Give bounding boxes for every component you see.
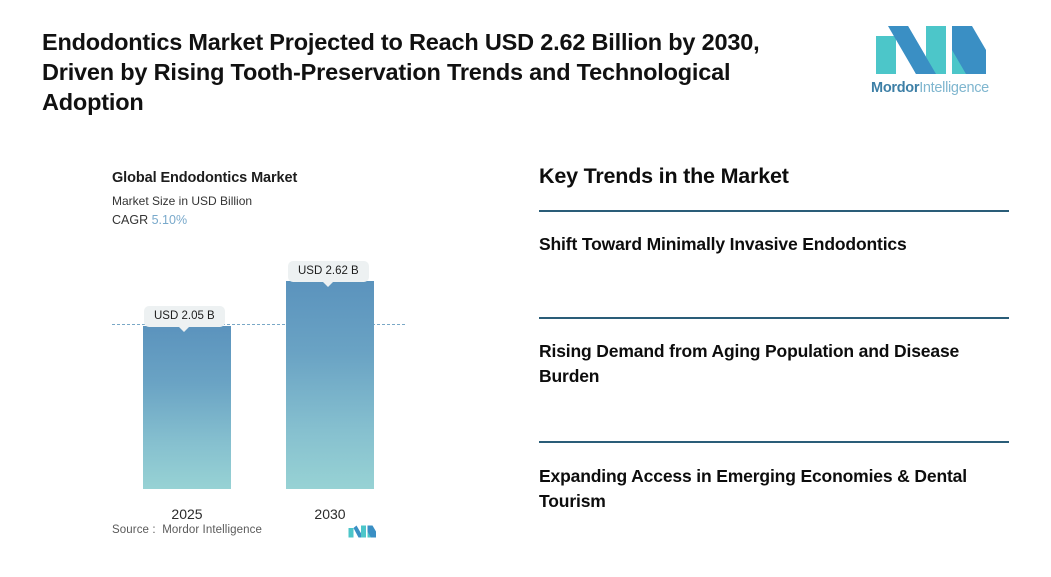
source-name: Mordor Intelligence: [162, 524, 262, 536]
mordor-logo-small-icon: [348, 523, 376, 540]
source-text: Source : Mordor Intelligence: [112, 524, 262, 536]
cagr-value: 5.10%: [152, 213, 187, 227]
chart-title: Global Endodontics Market: [112, 170, 412, 186]
brand-name-light: Intelligence: [919, 80, 989, 96]
bar-value-label-2025: USD 2.05 B: [144, 306, 225, 327]
key-trends-panel: Key Trends in the Market Shift Toward Mi…: [539, 162, 1009, 514]
brand-name-bold: Mordor: [871, 80, 919, 96]
mordor-logo-icon: [874, 24, 986, 76]
bar-2030: [286, 281, 374, 489]
cagr-label: CAGR: [112, 213, 148, 227]
brand-logo: MordorIntelligence: [866, 24, 994, 108]
bar-2025: [143, 326, 231, 489]
x-axis-label-2025: 2025: [143, 506, 231, 522]
chart-source: Source : Mordor Intelligence: [112, 522, 412, 544]
trend-item-2: Rising Demand from Aging Population and …: [539, 319, 1009, 441]
bar-value-label-2030: USD 2.62 B: [288, 261, 369, 282]
page-title: Endodontics Market Projected to Reach US…: [42, 27, 832, 117]
chart-subtitle: Market Size in USD Billion: [112, 194, 412, 208]
infographic-page: Endodontics Market Projected to Reach US…: [0, 0, 1051, 577]
trend-item-3: Expanding Access in Emerging Economies &…: [539, 443, 1009, 514]
bar-chart-plot: USD 2.05 B USD 2.62 B 2025 2030: [112, 170, 412, 550]
key-trends-title: Key Trends in the Market: [539, 162, 1009, 190]
reference-dashed-line: [112, 324, 405, 325]
chart-cagr: CAGR 5.10%: [112, 213, 412, 227]
brand-wordmark: MordorIntelligence: [866, 80, 994, 96]
trend-item-1: Shift Toward Minimally Invasive Endodont…: [539, 212, 1009, 317]
x-axis-label-2030: 2030: [286, 506, 374, 522]
chart-panel: Global Endodontics Market Market Size in…: [112, 170, 412, 550]
source-label: Source :: [112, 524, 156, 536]
